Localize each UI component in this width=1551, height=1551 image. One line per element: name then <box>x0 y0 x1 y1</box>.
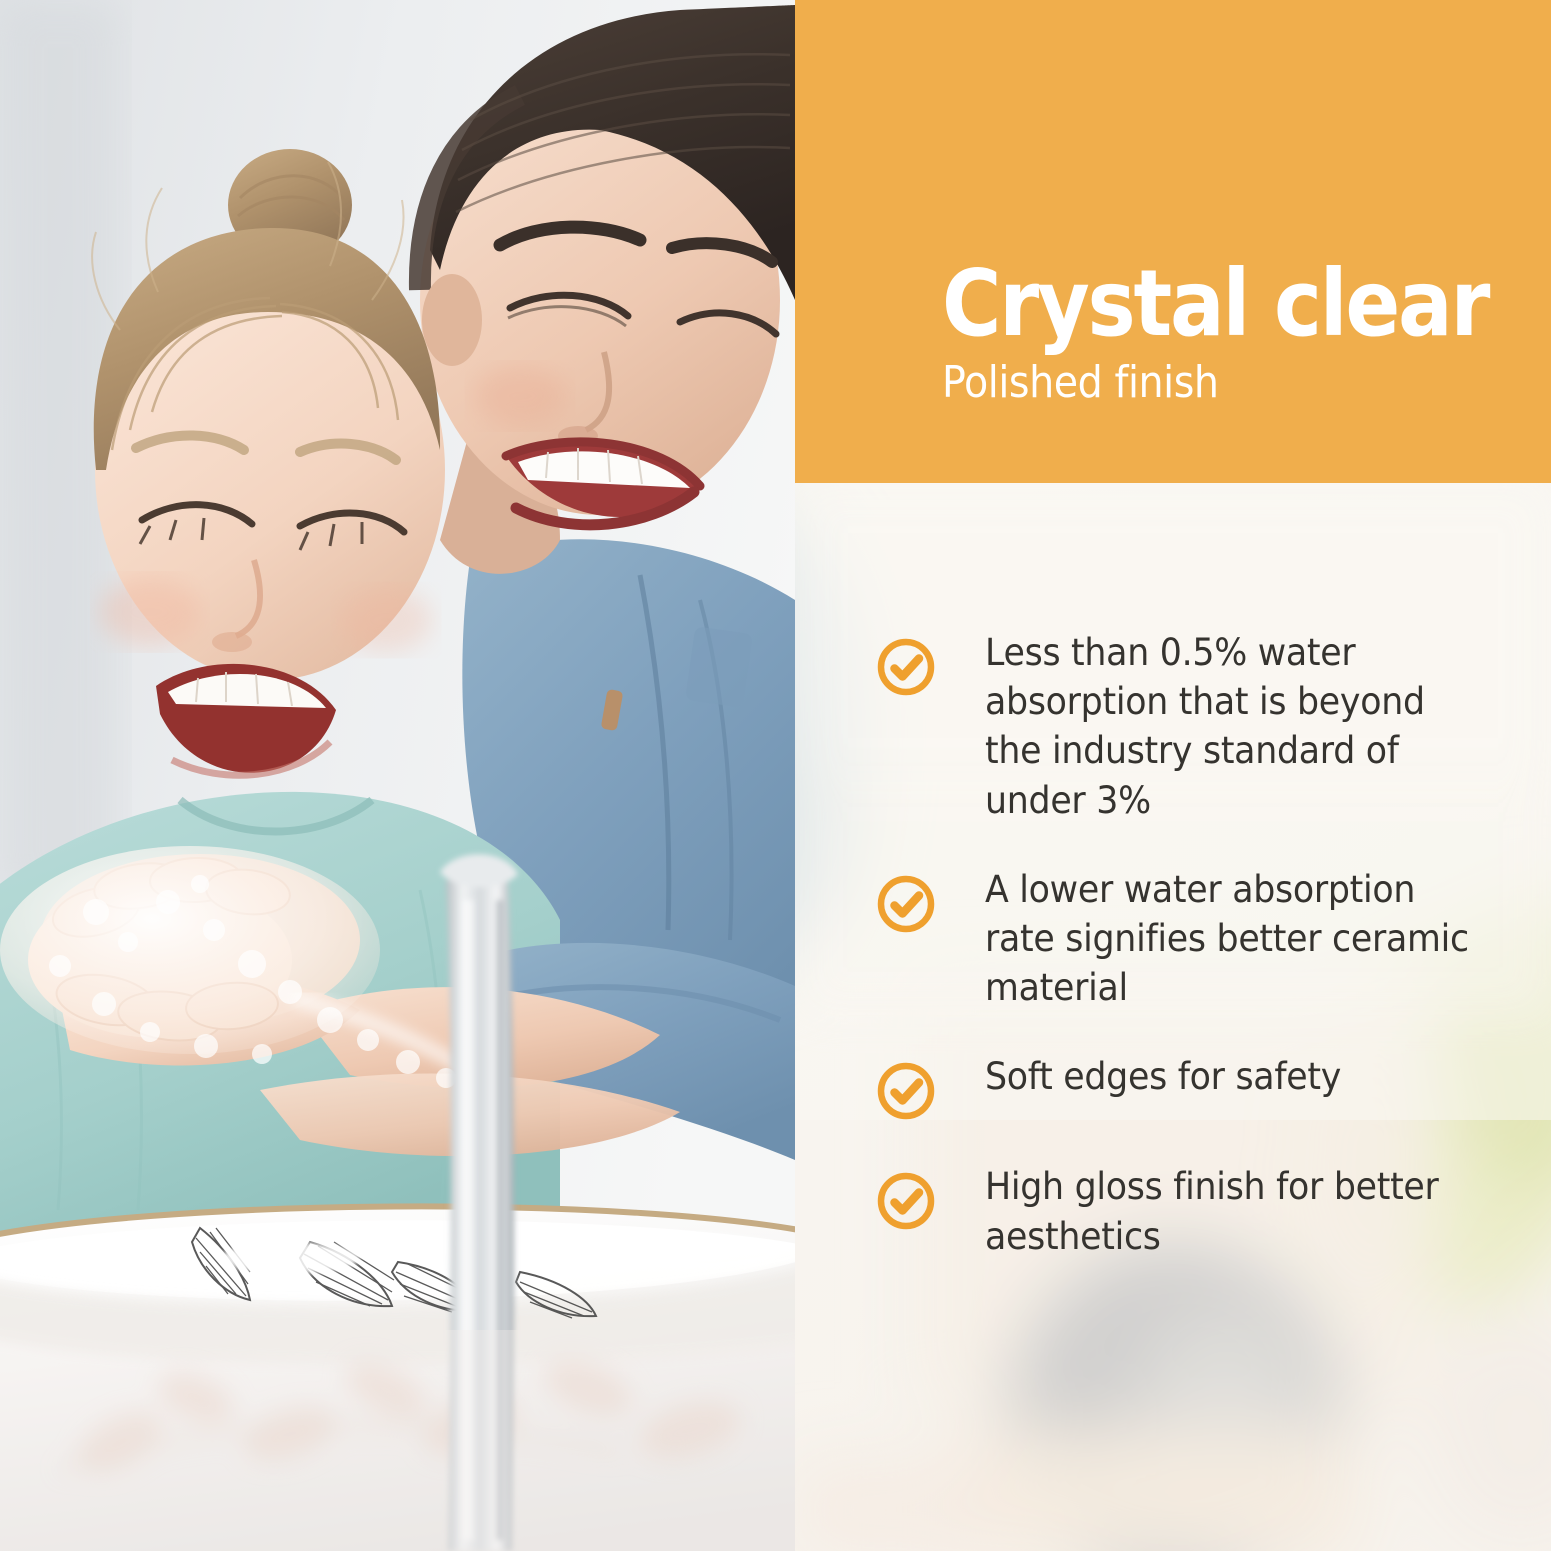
feature-text: A lower water absorption rate signifies … <box>985 865 1483 1013</box>
photo-illustration <box>0 0 795 1551</box>
feature-item: A lower water absorption rate signifies … <box>875 865 1515 1013</box>
page-title: Crystal clear <box>942 260 1469 348</box>
check-circle-icon <box>875 636 937 698</box>
feature-text: Soft edges for safety <box>985 1052 1483 1101</box>
check-circle-icon <box>875 873 937 935</box>
feature-item: High gloss finish for better aesthetics <box>875 1162 1515 1260</box>
feature-item: Less than 0.5% water absorption that is … <box>875 628 1515 825</box>
infographic-page: Crystal clear Polished finish Less than … <box>0 0 1551 1551</box>
feature-item: Soft edges for safety <box>875 1052 1515 1122</box>
content-panel: Crystal clear Polished finish Less than … <box>795 0 1551 1551</box>
product-lifestyle-photo <box>0 0 795 1551</box>
page-subtitle: Polished finish <box>942 359 1481 407</box>
header-banner: Crystal clear Polished finish <box>795 0 1551 483</box>
check-circle-icon <box>875 1170 937 1232</box>
check-circle-icon <box>875 1060 937 1122</box>
feature-list: Less than 0.5% water absorption that is … <box>875 628 1515 1261</box>
feature-text: Less than 0.5% water absorption that is … <box>985 628 1483 825</box>
feature-text: High gloss finish for better aesthetics <box>985 1162 1483 1260</box>
banner-text-block: Crystal clear Polished finish <box>942 260 1541 407</box>
